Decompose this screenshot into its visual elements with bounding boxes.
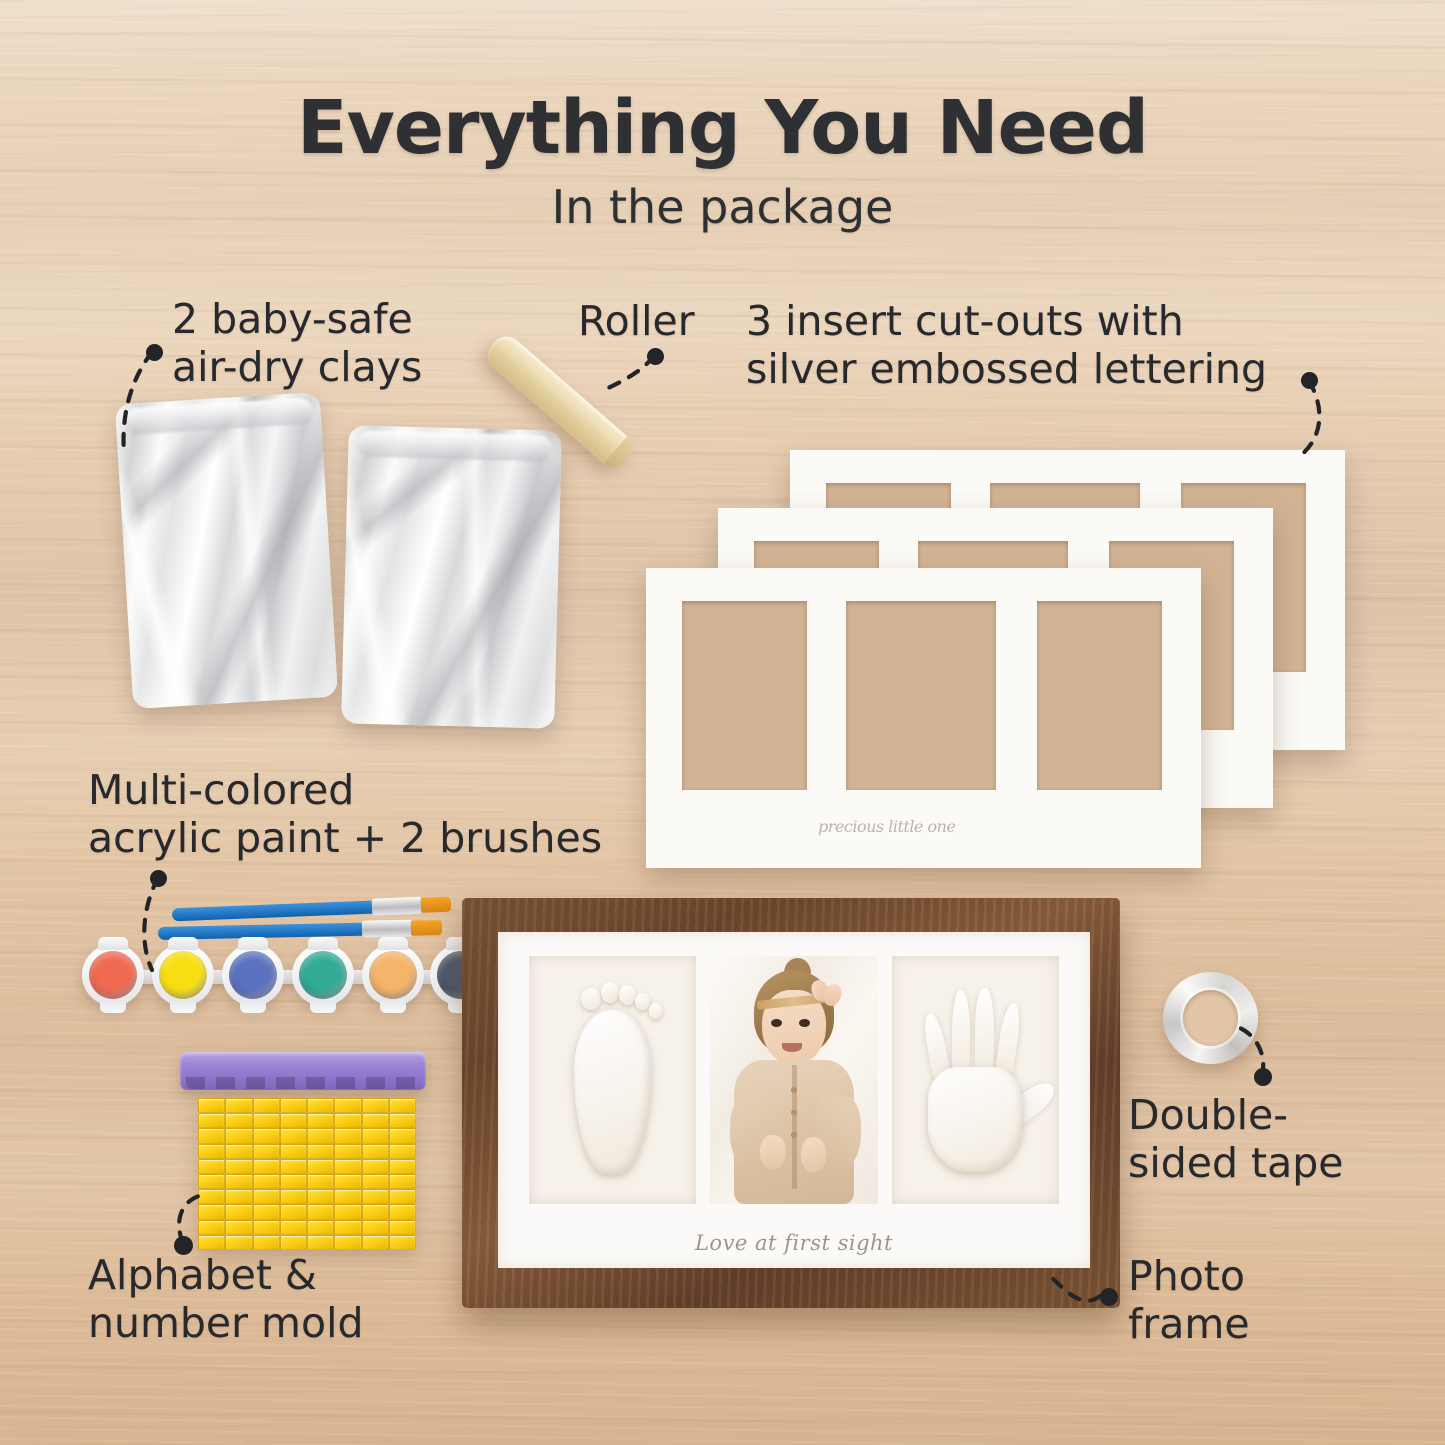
connector-dot-inserts (1301, 372, 1318, 389)
connector-dot-paint (150, 870, 167, 887)
connector-paint (144, 878, 158, 970)
callout-connectors (0, 0, 1445, 1445)
connector-inserts (1300, 381, 1319, 456)
connector-dot-frame (1100, 1288, 1118, 1306)
connector-dot-mold (174, 1236, 193, 1255)
connector-frame (1050, 1276, 1100, 1301)
connector-dot-clays (146, 344, 163, 361)
connector-clays (124, 352, 152, 452)
connector-roller (600, 356, 654, 392)
connector-dot-tape (1254, 1068, 1272, 1086)
connector-dot-roller (647, 348, 664, 365)
